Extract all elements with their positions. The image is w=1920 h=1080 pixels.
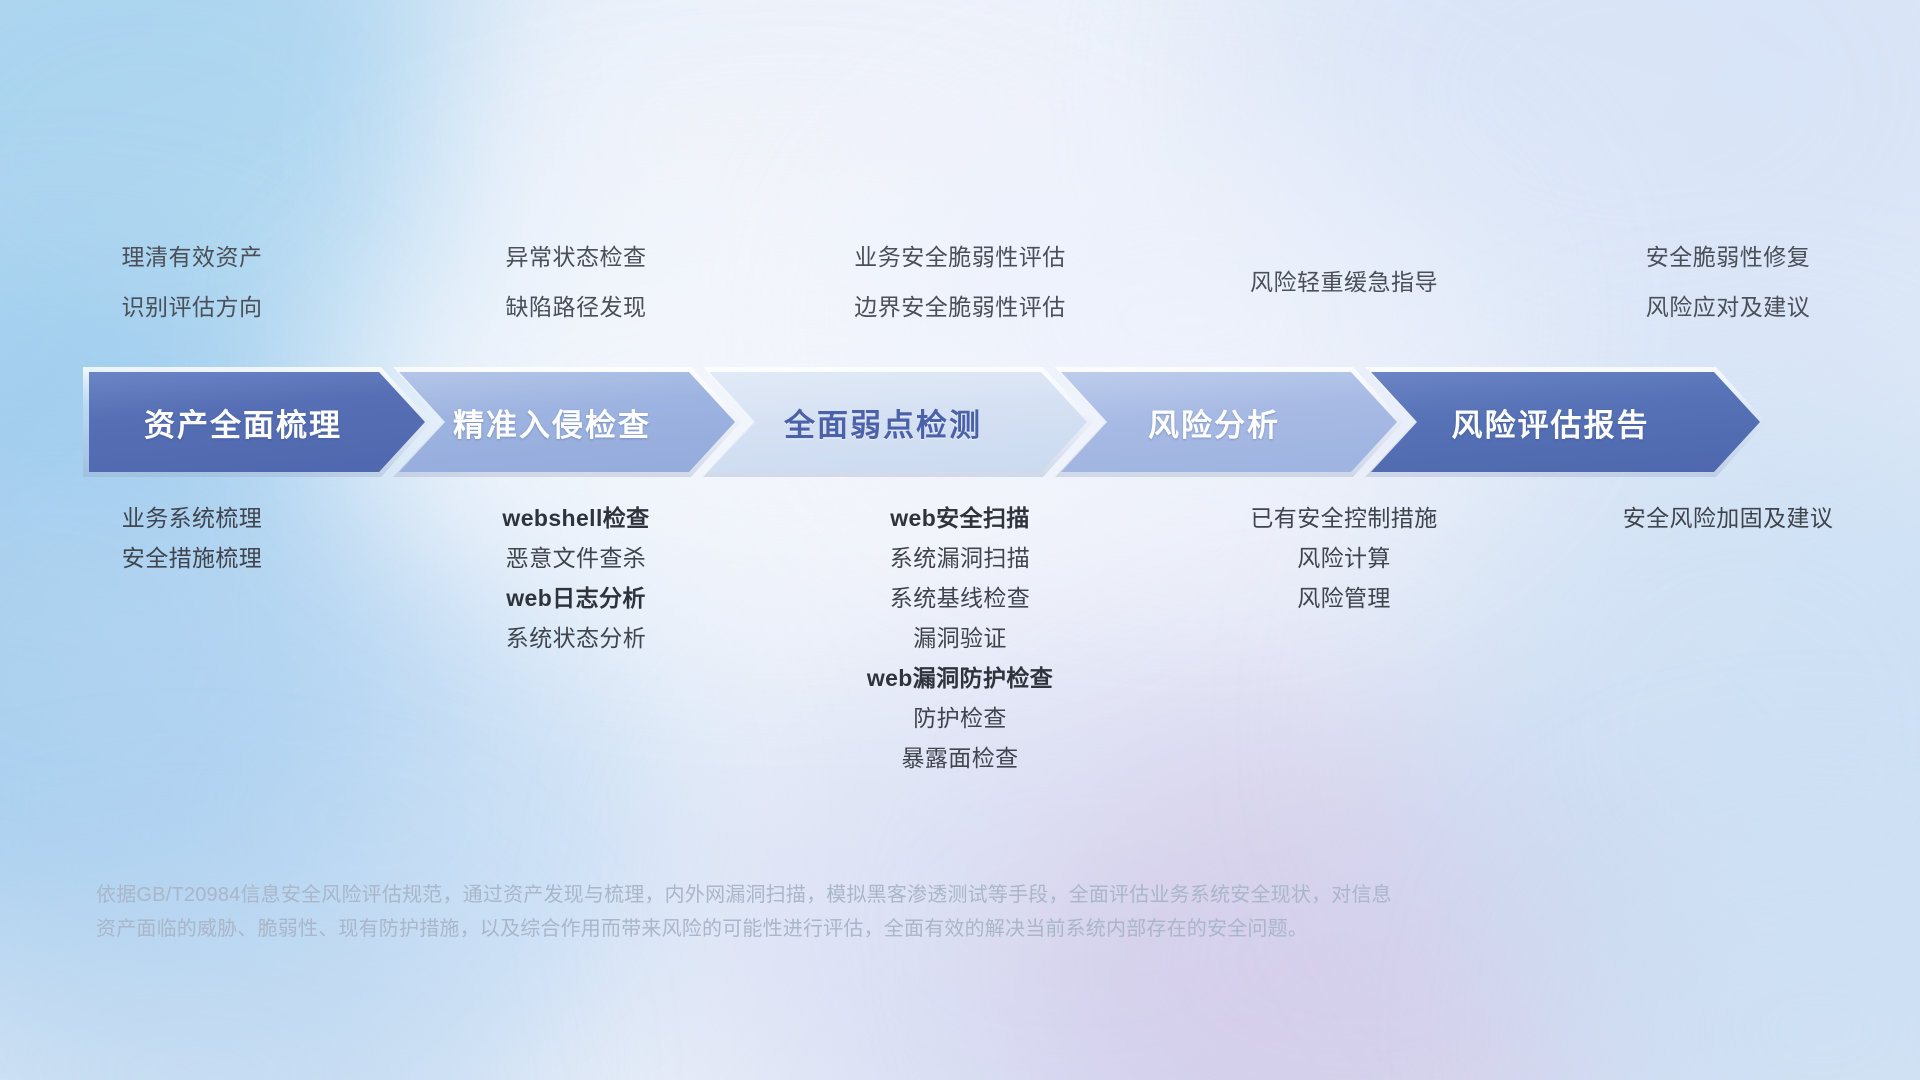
stage-output-item: 风险管理 [1297, 578, 1391, 618]
footer-description: 依据GB/T20984信息安全风险评估规范，通过资产发现与梳理，内外网漏洞扫描，… [96, 878, 1826, 946]
stage-input-label: 边界安全脆弱性评估 [854, 282, 1066, 332]
stage-outputs-column: 已有安全控制措施 风险计算 风险管理 [1152, 498, 1536, 618]
chevron-label: 风险评估报告 [1371, 400, 1760, 445]
footer-line-2: 资产面临的威胁、脆弱性、现有防护措施，以及综合作用而带来风险的可能性进行评估，全… [96, 912, 1826, 946]
stage-output-item: 安全措施梳理 [122, 538, 262, 578]
stage-inputs-column: 理清有效资产 识别评估方向 [0, 232, 384, 332]
stage-output-item: webshell检查 [502, 498, 649, 538]
chevron-label: 精准入侵检查 [399, 400, 735, 445]
stage-inputs-column: 风险轻重缓急指导 [1152, 232, 1536, 332]
chevron-label: 资产全面梳理 [89, 400, 425, 445]
stage-outputs-column: 业务系统梳理 安全措施梳理 [0, 498, 384, 578]
stage-output-item: 安全风险加固及建议 [1623, 498, 1834, 538]
stage-input-label: 安全脆弱性修复 [1646, 232, 1811, 282]
stage-output-item: web漏洞防护检查 [867, 658, 1053, 698]
stage-outputs-column: 安全风险加固及建议 [1536, 498, 1920, 538]
stage-output-item: web安全扫描 [890, 498, 1030, 538]
stage-input-label: 风险应对及建议 [1646, 282, 1811, 332]
stage-output-item: 已有安全控制措施 [1250, 498, 1437, 538]
process-chevron-band: 资产全面梳理 精准入侵检查 全面弱点检测 风险分析 风险评估报告 [89, 372, 1838, 472]
stage-output-item: 防护检查 [913, 698, 1007, 738]
stage-inputs-row: 理清有效资产 识别评估方向 异常状态检查 缺陷路径发现 业务安全脆弱性评估 边界… [0, 232, 1920, 332]
stage-output-item: 系统漏洞扫描 [890, 538, 1030, 578]
stage-output-item: 业务系统梳理 [122, 498, 262, 538]
stage-outputs-column: webshell检查 恶意文件查杀 web日志分析 系统状态分析 [384, 498, 768, 658]
chevron-stage-1[interactable]: 资产全面梳理 [89, 372, 425, 472]
chevron-stage-3[interactable]: 全面弱点检测 [709, 372, 1087, 472]
stage-output-item: 恶意文件查杀 [506, 538, 646, 578]
stage-outputs-column: web安全扫描 系统漏洞扫描 系统基线检查 漏洞验证 web漏洞防护检查 防护检… [768, 498, 1152, 778]
stage-input-label: 风险轻重缓急指导 [1250, 257, 1438, 307]
chevron-stage-2[interactable]: 精准入侵检查 [399, 372, 735, 472]
chevron-label: 全面弱点检测 [709, 400, 1087, 445]
stage-inputs-column: 业务安全脆弱性评估 边界安全脆弱性评估 [768, 232, 1152, 332]
footer-line-1: 依据GB/T20984信息安全风险评估规范，通过资产发现与梳理，内外网漏洞扫描，… [96, 878, 1826, 912]
stage-output-item: 暴露面检查 [902, 738, 1019, 778]
stage-output-item: 系统状态分析 [506, 618, 646, 658]
stage-output-item: 系统基线检查 [890, 578, 1030, 618]
chevron-label: 风险分析 [1061, 400, 1397, 445]
stage-input-label: 理清有效资产 [122, 232, 263, 282]
stage-input-label: 识别评估方向 [122, 282, 263, 332]
stage-input-label: 异常状态检查 [506, 232, 647, 282]
stage-output-item: web日志分析 [506, 578, 646, 618]
stage-output-item: 风险计算 [1297, 538, 1391, 578]
stage-inputs-column: 异常状态检查 缺陷路径发现 [384, 232, 768, 332]
stage-output-item: 漏洞验证 [913, 618, 1007, 658]
process-diagram: 理清有效资产 识别评估方向 异常状态检查 缺陷路径发现 业务安全脆弱性评估 边界… [0, 0, 1920, 1080]
stage-input-label: 缺陷路径发现 [506, 282, 647, 332]
stage-inputs-column: 安全脆弱性修复 风险应对及建议 [1536, 232, 1920, 332]
stage-outputs-row: 业务系统梳理 安全措施梳理 webshell检查 恶意文件查杀 web日志分析 … [0, 498, 1920, 778]
chevron-stage-4[interactable]: 风险分析 [1061, 372, 1397, 472]
chevron-stage-5[interactable]: 风险评估报告 [1371, 372, 1760, 472]
stage-input-label: 业务安全脆弱性评估 [854, 232, 1066, 282]
